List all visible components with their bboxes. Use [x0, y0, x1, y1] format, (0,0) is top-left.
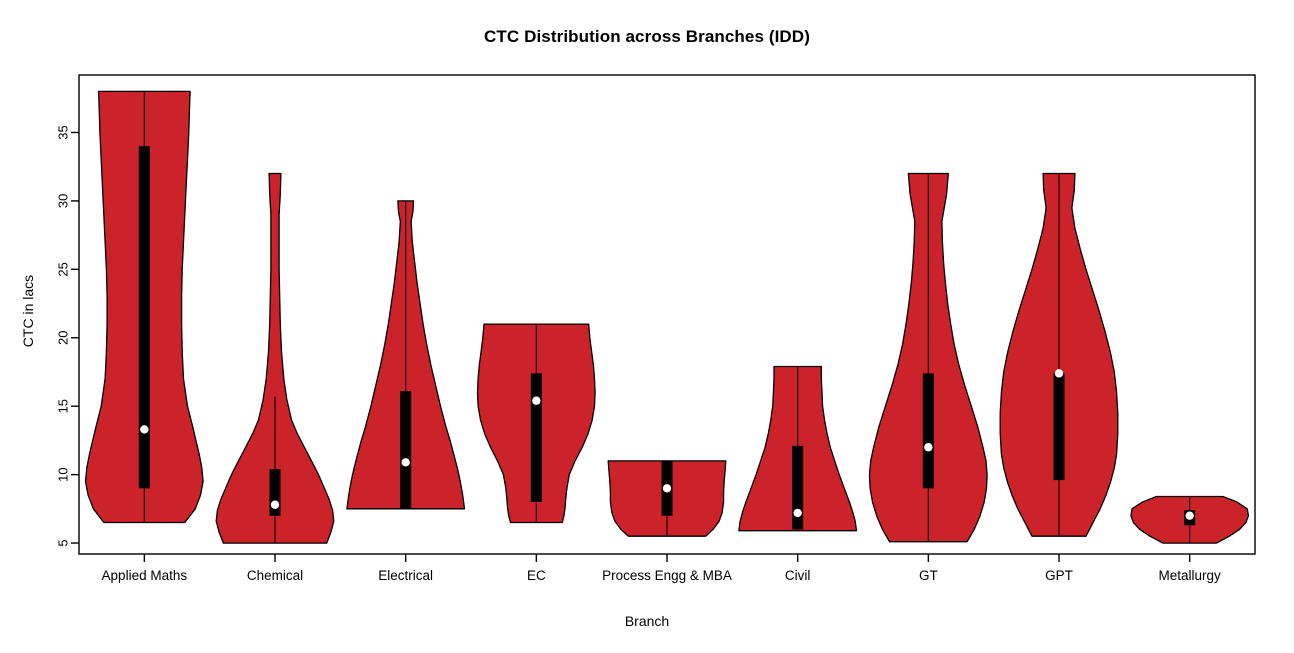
median-marker — [271, 501, 279, 509]
y-tick-label: 5 — [56, 539, 71, 546]
median-marker — [140, 425, 148, 433]
y-tick-label: 10 — [56, 467, 71, 481]
y-tick-label: 35 — [56, 125, 71, 139]
median-marker — [532, 397, 540, 405]
x-tick-label-5: Civil — [785, 568, 811, 583]
y-tick-label: 20 — [56, 331, 71, 345]
x-tick-label-6: GT — [919, 568, 938, 583]
iqr-box — [400, 391, 411, 509]
violin-applied-maths[interactable] — [86, 91, 204, 522]
violin-gt[interactable] — [870, 174, 988, 542]
violin-plot-figure: CTC Distribution across Branches (IDD) B… — [0, 0, 1294, 653]
violin-process-engg-mba[interactable] — [608, 461, 726, 536]
y-tick-label: 25 — [56, 262, 71, 276]
x-tick-label-1: Chemical — [247, 568, 303, 583]
x-tick-label-2: Electrical — [378, 568, 433, 583]
iqr-box — [139, 146, 150, 488]
y-tick-label: 15 — [56, 399, 71, 413]
median-marker — [401, 458, 409, 466]
x-tick-label-4: Process Engg & MBA — [602, 568, 732, 583]
violin-ec[interactable] — [478, 324, 596, 522]
iqr-box — [1054, 373, 1065, 480]
violins-layer — [86, 91, 1249, 543]
x-tick-label-8: Metallurgy — [1159, 568, 1222, 583]
iqr-box — [923, 373, 934, 488]
violin-metallurgy[interactable] — [1131, 497, 1249, 544]
iqr-box — [531, 373, 542, 502]
median-marker — [663, 484, 671, 492]
median-marker — [1055, 369, 1063, 377]
x-tick-label-0: Applied Maths — [102, 568, 188, 583]
violin-civil[interactable] — [739, 367, 857, 531]
x-tick-label-7: GPT — [1045, 568, 1073, 583]
x-tick-labels: Applied MathsChemicalElectricalECProcess… — [102, 568, 1221, 583]
violin-chemical[interactable] — [216, 174, 334, 544]
violin-electrical[interactable] — [347, 201, 465, 509]
median-marker — [793, 509, 801, 517]
median-marker — [1185, 511, 1193, 519]
x-tick-label-3: EC — [527, 568, 546, 583]
y-tick-label: 30 — [56, 194, 71, 208]
median-marker — [924, 443, 932, 451]
violin-gpt[interactable] — [1000, 174, 1118, 537]
plot-canvas: 5101520253035 Applied MathsChemicalElect… — [0, 0, 1294, 653]
